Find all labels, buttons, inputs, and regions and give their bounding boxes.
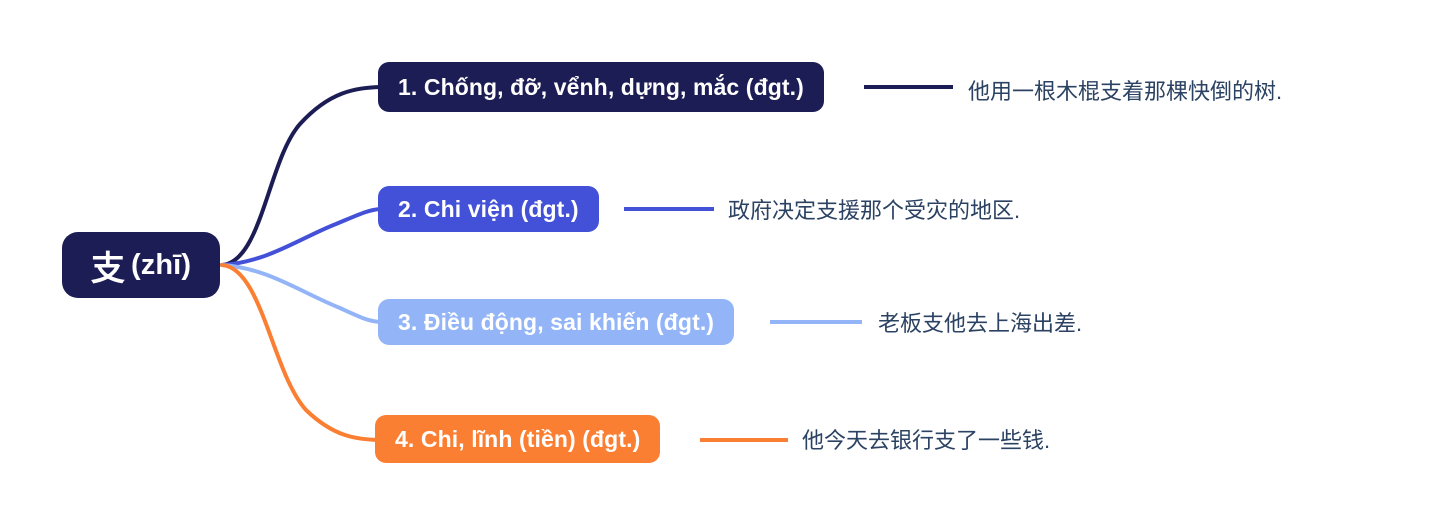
root-node[interactable]: 支 (zhī) bbox=[62, 232, 220, 298]
root-pinyin: (zhī) bbox=[131, 249, 191, 282]
curve-to-branch-3 bbox=[222, 265, 380, 322]
branch-label-1: 1. Chống, đỡ, vểnh, dựng, mắc (đgt.) bbox=[398, 74, 804, 101]
root-hanzi: 支 bbox=[91, 241, 125, 290]
branch-node-2[interactable]: 2. Chi viện (đgt.) bbox=[378, 186, 599, 232]
curve-to-branch-4 bbox=[222, 265, 378, 440]
example-sentence-4: 他今天去银行支了一些钱. bbox=[802, 423, 1050, 455]
branch-node-1[interactable]: 1. Chống, đỡ, vểnh, dựng, mắc (đgt.) bbox=[378, 62, 824, 112]
example-sentence-1: 他用一根木棍支着那棵快倒的树. bbox=[968, 74, 1282, 106]
example-sentence-3: 老板支他去上海出差. bbox=[878, 306, 1082, 338]
branch-node-3[interactable]: 3. Điều động, sai khiến (đgt.) bbox=[378, 299, 734, 345]
branch-node-4[interactable]: 4. Chi, lĩnh (tiền) (đgt.) bbox=[375, 415, 660, 463]
branch-label-4: 4. Chi, lĩnh (tiền) (đgt.) bbox=[395, 426, 640, 453]
curve-to-branch-1 bbox=[222, 87, 380, 265]
mindmap-canvas: 支 (zhī) 1. Chống, đỡ, vểnh, dựng, mắc (đ… bbox=[0, 0, 1433, 520]
curve-to-branch-2 bbox=[222, 209, 380, 265]
example-sentence-2: 政府决定支援那个受灾的地区. bbox=[728, 193, 1020, 225]
branch-label-2: 2. Chi viện (đgt.) bbox=[398, 196, 579, 223]
branch-label-3: 3. Điều động, sai khiến (đgt.) bbox=[398, 309, 714, 336]
